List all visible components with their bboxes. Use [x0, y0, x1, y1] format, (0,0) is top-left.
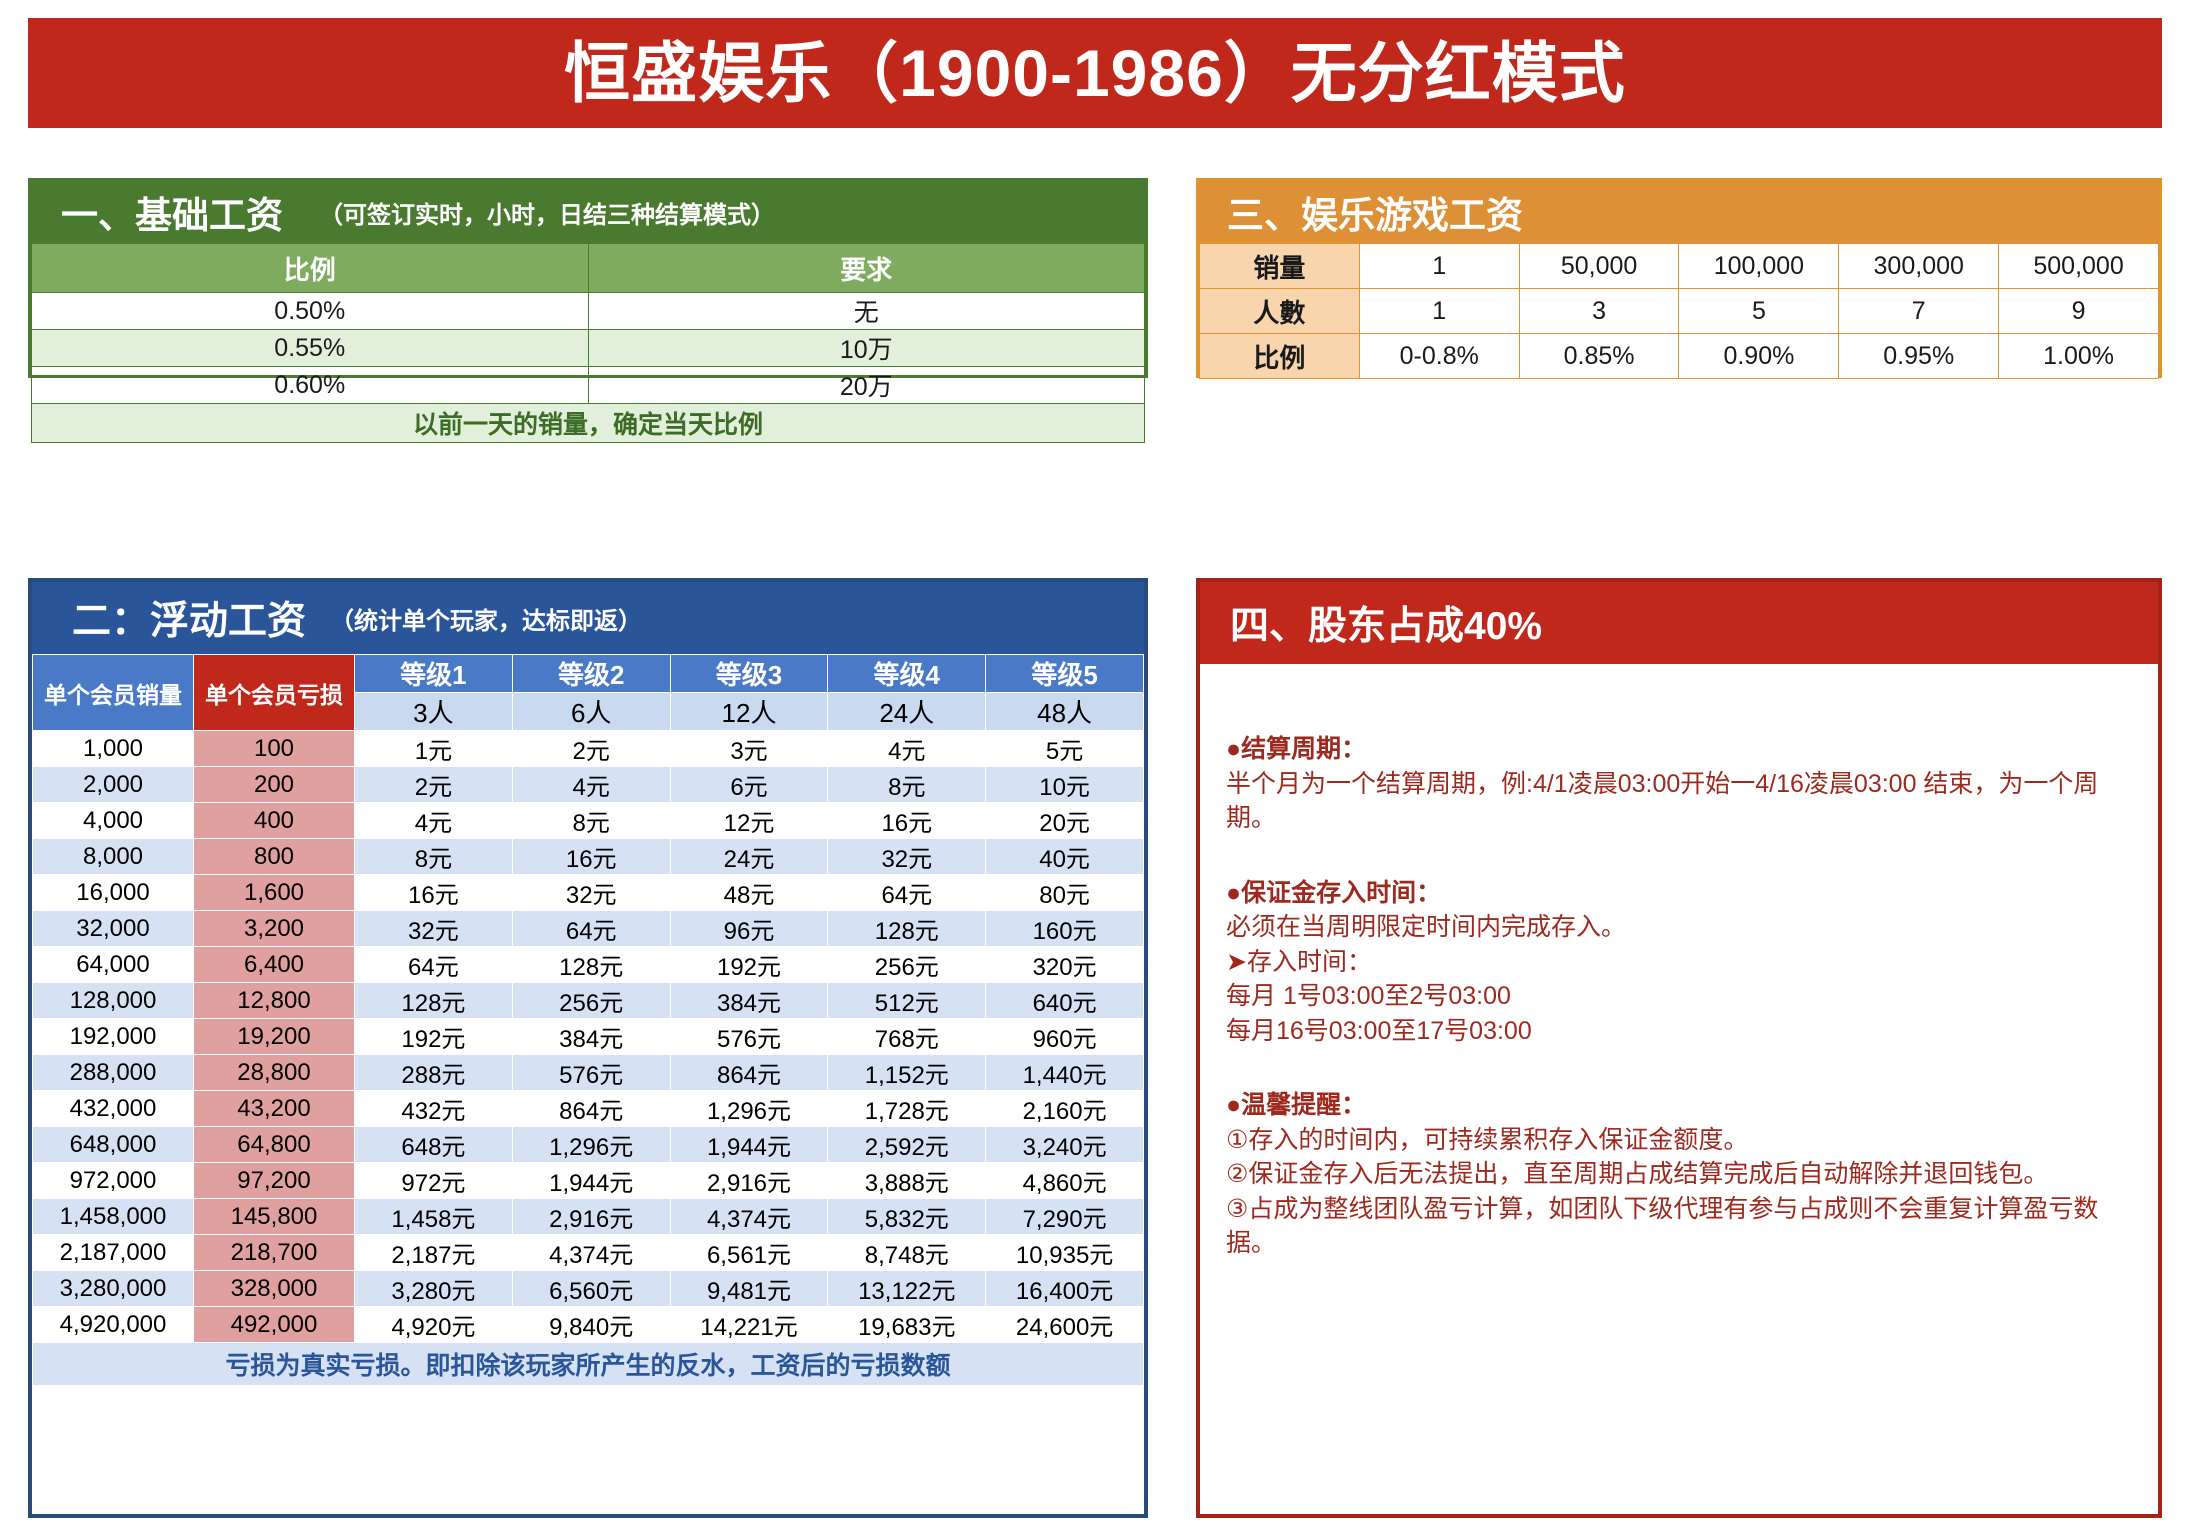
cell-member-loss: 100 — [194, 731, 355, 767]
cell-ratio-2: 0.85% — [1519, 334, 1679, 379]
cell-sales-5: 500,000 — [1999, 244, 2159, 289]
shareholder-note-bullet: ●结算周期： — [1226, 732, 2132, 767]
cell-member-sales: 128,000 — [33, 983, 194, 1019]
cell-level-3: 9,840元 — [512, 1307, 670, 1343]
base-salary-table: 比例 要求 0.50% 无 0.55% 10万 0.60% 20万 以前一天的销… — [31, 243, 1145, 443]
table-row: 0.55% 10万 — [32, 330, 1145, 367]
column-header-member-loss: 单个会员亏损 — [194, 655, 355, 731]
cell-member-sales: 972,000 — [33, 1163, 194, 1199]
column-header-requirement: 要求 — [588, 244, 1145, 293]
cell-member-loss: 1,600 — [194, 875, 355, 911]
shareholder-note-line: 必须在当周明限定时间内完成存入。 — [1226, 910, 2132, 945]
cell-level-3: 128元 — [512, 947, 670, 983]
cell-sales-1: 1 — [1359, 244, 1519, 289]
shareholder-note-line: ①存入的时间内，可持续累积存入保证金额度。 — [1226, 1123, 2132, 1158]
cell-member-loss: 492,000 — [194, 1307, 355, 1343]
cell-level-2: 4,920元 — [355, 1307, 513, 1343]
cell-level-3: 64元 — [512, 911, 670, 947]
table-row: 3,280,000328,0003,280元6,560元9,481元13,122… — [33, 1271, 1144, 1307]
row-header-sales: 销量 — [1200, 244, 1360, 289]
cell-level-6: 7,290元 — [986, 1199, 1144, 1235]
base-salary-footer-note: 以前一天的销量，确定当天比例 — [32, 404, 1145, 443]
cell-level-3: 16元 — [512, 839, 670, 875]
section-shareholder-title: 四、股东占成40% — [1230, 595, 1542, 651]
cell-ratio-3: 0.90% — [1679, 334, 1839, 379]
cell-member-sales: 2,187,000 — [33, 1235, 194, 1271]
table-row: 0.50% 无 — [32, 293, 1145, 330]
cell-level-2: 2元 — [355, 767, 513, 803]
section-floating-salary: 二：浮动工资 （统计单个玩家，达标即返） 单个会员销量 单个会员亏损 等级1 等… — [28, 578, 1148, 1518]
cell-level-3: 864元 — [512, 1091, 670, 1127]
table-row: 32,0003,20032元64元96元128元160元 — [33, 911, 1144, 947]
cell-level-3: 6,560元 — [512, 1271, 670, 1307]
section-shareholder-header: 四、股东占成40% — [1200, 582, 2158, 664]
cell-level-4: 384元 — [670, 983, 828, 1019]
cell-member-loss: 800 — [194, 839, 355, 875]
cell-level-4: 2,916元 — [670, 1163, 828, 1199]
section-base-salary-title: 一、基础工资 — [61, 185, 283, 239]
cell-level-5: 512元 — [828, 983, 986, 1019]
table-row: 972,00097,200972元1,944元2,916元3,888元4,860… — [33, 1163, 1144, 1199]
column-header-level-5: 等级5 — [986, 655, 1144, 693]
section-base-salary: 一、基础工资 （可签订实时，小时，日结三种结算模式） 比例 要求 0.50% 无… — [28, 178, 1148, 378]
cell-level-4: 6元 — [670, 767, 828, 803]
cell-member-sales: 4,920,000 — [33, 1307, 194, 1343]
cell-level-5: 128元 — [828, 911, 986, 947]
cell-level-2: 192元 — [355, 1019, 513, 1055]
cell-requirement: 10万 — [588, 330, 1145, 367]
cell-member-loss: 28,800 — [194, 1055, 355, 1091]
page-title-banner: 恒盛娱乐（1900-1986）无分红模式 — [28, 18, 2162, 128]
cell-level-3: 4元 — [512, 767, 670, 803]
cell-level-6: 10元 — [986, 767, 1144, 803]
cell-requirement: 无 — [588, 293, 1145, 330]
cell-level-5: 16元 — [828, 803, 986, 839]
level-count-1: 3人 — [355, 693, 513, 731]
cell-level-2: 288元 — [355, 1055, 513, 1091]
cell-level-3: 1,296元 — [512, 1127, 670, 1163]
section-shareholder: 四、股东占成40% ●结算周期：半个月为一个结算周期，例:4/1凌晨03:00开… — [1196, 578, 2162, 1518]
cell-people-3: 5 — [1679, 289, 1839, 334]
cell-level-4: 1,944元 — [670, 1127, 828, 1163]
level-count-2: 6人 — [512, 693, 670, 731]
game-salary-table: 销量 1 50,000 100,000 300,000 500,000 人數 1… — [1199, 243, 2159, 379]
cell-level-6: 160元 — [986, 911, 1144, 947]
section-base-salary-note: （可签订实时，小时，日结三种结算模式） — [319, 195, 775, 230]
cell-level-6: 4,860元 — [986, 1163, 1144, 1199]
cell-member-sales: 2,000 — [33, 767, 194, 803]
cell-level-4: 14,221元 — [670, 1307, 828, 1343]
cell-level-4: 3元 — [670, 731, 828, 767]
column-header-ratio: 比例 — [32, 244, 589, 293]
section-shareholder-body: ●结算周期：半个月为一个结算周期，例:4/1凌晨03:00开始一4/16凌晨03… — [1200, 664, 2158, 1261]
cell-level-6: 320元 — [986, 947, 1144, 983]
cell-level-2: 128元 — [355, 983, 513, 1019]
cell-member-sales: 648,000 — [33, 1127, 194, 1163]
cell-member-sales: 64,000 — [33, 947, 194, 983]
cell-level-5: 13,122元 — [828, 1271, 986, 1307]
cell-member-loss: 64,800 — [194, 1127, 355, 1163]
cell-level-4: 12元 — [670, 803, 828, 839]
table-row: 8,0008008元16元24元32元40元 — [33, 839, 1144, 875]
cell-level-2: 64元 — [355, 947, 513, 983]
table-row: 比例 0-0.8% 0.85% 0.90% 0.95% 1.00% — [1200, 334, 2159, 379]
cell-member-sales: 8,000 — [33, 839, 194, 875]
cell-ratio: 0.55% — [32, 330, 589, 367]
table-footer-row: 亏损为真实亏损。即扣除该玩家所产生的反水，工资后的亏损数额 — [33, 1343, 1144, 1386]
cell-member-sales: 3,280,000 — [33, 1271, 194, 1307]
cell-level-6: 640元 — [986, 983, 1144, 1019]
cell-level-2: 8元 — [355, 839, 513, 875]
cell-level-3: 4,374元 — [512, 1235, 670, 1271]
cell-level-2: 3,280元 — [355, 1271, 513, 1307]
cell-people-1: 1 — [1359, 289, 1519, 334]
cell-level-2: 32元 — [355, 911, 513, 947]
table-row: 16,0001,60016元32元48元64元80元 — [33, 875, 1144, 911]
cell-level-4: 9,481元 — [670, 1271, 828, 1307]
cell-level-5: 8元 — [828, 767, 986, 803]
cell-ratio: 0.60% — [32, 367, 589, 404]
cell-level-6: 2,160元 — [986, 1091, 1144, 1127]
cell-level-2: 2,187元 — [355, 1235, 513, 1271]
cell-ratio-1: 0-0.8% — [1359, 334, 1519, 379]
cell-member-sales: 432,000 — [33, 1091, 194, 1127]
table-row: 2,0002002元4元6元8元10元 — [33, 767, 1144, 803]
cell-people-4: 7 — [1839, 289, 1999, 334]
cell-level-5: 19,683元 — [828, 1307, 986, 1343]
level-count-4: 24人 — [828, 693, 986, 731]
shareholder-note-line: ③占成为整线团队盈亏计算，如团队下级代理有参与占成则不会重复计算盈亏数据。 — [1226, 1192, 2132, 1261]
cell-level-4: 576元 — [670, 1019, 828, 1055]
cell-level-3: 8元 — [512, 803, 670, 839]
table-row: 64,0006,40064元128元192元256元320元 — [33, 947, 1144, 983]
shareholder-note-block: ●结算周期：半个月为一个结算周期，例:4/1凌晨03:00开始一4/16凌晨03… — [1226, 732, 2132, 836]
cell-sales-4: 300,000 — [1839, 244, 1999, 289]
shareholder-note-line: ②保证金存入后无法提出，直至周期占成结算完成后自动解除并退回钱包。 — [1226, 1157, 2132, 1192]
table-footer-row: 以前一天的销量，确定当天比例 — [32, 404, 1145, 443]
cell-member-sales: 32,000 — [33, 911, 194, 947]
cell-level-4: 6,561元 — [670, 1235, 828, 1271]
table-row: 1,458,000145,8001,458元2,916元4,374元5,832元… — [33, 1199, 1144, 1235]
cell-level-4: 48元 — [670, 875, 828, 911]
cell-level-3: 576元 — [512, 1055, 670, 1091]
cell-level-3: 2元 — [512, 731, 670, 767]
cell-level-4: 24元 — [670, 839, 828, 875]
cell-level-2: 432元 — [355, 1091, 513, 1127]
section-floating-salary-header: 二：浮动工资 （统计单个玩家，达标即返） — [32, 582, 1144, 654]
shareholder-note-line: 每月 1号03:00至2号03:00 — [1226, 979, 2132, 1014]
cell-member-loss: 12,800 — [194, 983, 355, 1019]
table-row: 销量 1 50,000 100,000 300,000 500,000 — [1200, 244, 2159, 289]
cell-member-loss: 19,200 — [194, 1019, 355, 1055]
cell-level-6: 20元 — [986, 803, 1144, 839]
cell-sales-3: 100,000 — [1679, 244, 1839, 289]
section-floating-salary-note: （统计单个玩家，达标即返） — [330, 601, 642, 636]
cell-level-2: 648元 — [355, 1127, 513, 1163]
cell-level-3: 32元 — [512, 875, 670, 911]
cell-level-5: 768元 — [828, 1019, 986, 1055]
row-header-people: 人數 — [1200, 289, 1360, 334]
cell-level-2: 4元 — [355, 803, 513, 839]
cell-level-6: 10,935元 — [986, 1235, 1144, 1271]
cell-level-5: 1,152元 — [828, 1055, 986, 1091]
cell-member-loss: 6,400 — [194, 947, 355, 983]
level-count-5: 48人 — [986, 693, 1144, 731]
section-floating-salary-title: 二：浮动工资 — [72, 590, 306, 646]
cell-level-6: 1,440元 — [986, 1055, 1144, 1091]
cell-sales-2: 50,000 — [1519, 244, 1679, 289]
cell-level-2: 1元 — [355, 731, 513, 767]
cell-member-loss: 200 — [194, 767, 355, 803]
shareholder-note-line: 每月16号03:00至17号03:00 — [1226, 1014, 2132, 1049]
cell-member-sales: 288,000 — [33, 1055, 194, 1091]
cell-level-4: 96元 — [670, 911, 828, 947]
cell-level-2: 16元 — [355, 875, 513, 911]
table-row: 192,00019,200192元384元576元768元960元 — [33, 1019, 1144, 1055]
cell-member-sales: 192,000 — [33, 1019, 194, 1055]
table-row: 648,00064,800648元1,296元1,944元2,592元3,240… — [33, 1127, 1144, 1163]
cell-level-6: 960元 — [986, 1019, 1144, 1055]
cell-level-5: 64元 — [828, 875, 986, 911]
cell-level-4: 1,296元 — [670, 1091, 828, 1127]
table-row: 128,00012,800128元256元384元512元640元 — [33, 983, 1144, 1019]
row-header-ratio: 比例 — [1200, 334, 1360, 379]
cell-ratio: 0.50% — [32, 293, 589, 330]
cell-level-3: 2,916元 — [512, 1199, 670, 1235]
table-row: 432,00043,200432元864元1,296元1,728元2,160元 — [33, 1091, 1144, 1127]
cell-member-loss: 3,200 — [194, 911, 355, 947]
cell-member-sales: 1,458,000 — [33, 1199, 194, 1235]
cell-level-4: 4,374元 — [670, 1199, 828, 1235]
cell-level-5: 5,832元 — [828, 1199, 986, 1235]
cell-requirement: 20万 — [588, 367, 1145, 404]
table-header-row: 单个会员销量 单个会员亏损 等级1 等级2 等级3 等级4 等级5 — [33, 655, 1144, 693]
shareholder-note-line: 半个月为一个结算周期，例:4/1凌晨03:00开始一4/16凌晨03:00 结束… — [1226, 767, 2132, 836]
cell-member-loss: 328,000 — [194, 1271, 355, 1307]
shareholder-note-line: ➤存入时间： — [1226, 945, 2132, 980]
cell-level-2: 972元 — [355, 1163, 513, 1199]
column-header-level-4: 等级4 — [828, 655, 986, 693]
cell-level-5: 3,888元 — [828, 1163, 986, 1199]
table-header-row: 比例 要求 — [32, 244, 1145, 293]
cell-level-5: 4元 — [828, 731, 986, 767]
section-base-salary-header: 一、基础工资 （可签订实时，小时，日结三种结算模式） — [31, 181, 1145, 243]
cell-level-5: 256元 — [828, 947, 986, 983]
cell-member-sales: 4,000 — [33, 803, 194, 839]
cell-level-6: 3,240元 — [986, 1127, 1144, 1163]
cell-member-loss: 97,200 — [194, 1163, 355, 1199]
section-game-salary-title: 三、娱乐游戏工资 — [1227, 185, 1523, 239]
cell-level-6: 24,600元 — [986, 1307, 1144, 1343]
shareholder-note-bullet: ●保证金存入时间： — [1226, 876, 2132, 911]
cell-level-5: 8,748元 — [828, 1235, 986, 1271]
shareholder-note-bullet: ●温馨提醒： — [1226, 1088, 2132, 1123]
cell-member-loss: 43,200 — [194, 1091, 355, 1127]
page-title: 恒盛娱乐（1900-1986）无分红模式 — [564, 40, 1626, 106]
shareholder-note-block: ●保证金存入时间：必须在当周明限定时间内完成存入。➤存入时间：每月 1号03:0… — [1226, 876, 2132, 1049]
cell-level-6: 5元 — [986, 731, 1144, 767]
floating-salary-table: 单个会员销量 单个会员亏损 等级1 等级2 等级3 等级4 等级5 3人 6人 … — [32, 654, 1144, 1386]
cell-member-loss: 145,800 — [194, 1199, 355, 1235]
cell-member-loss: 218,700 — [194, 1235, 355, 1271]
section-game-salary: 三、娱乐游戏工资 销量 1 50,000 100,000 300,000 500… — [1196, 178, 2162, 378]
cell-level-4: 864元 — [670, 1055, 828, 1091]
cell-level-6: 80元 — [986, 875, 1144, 911]
cell-level-5: 32元 — [828, 839, 986, 875]
cell-level-5: 1,728元 — [828, 1091, 986, 1127]
cell-level-3: 1,944元 — [512, 1163, 670, 1199]
cell-level-3: 256元 — [512, 983, 670, 1019]
table-row: 4,920,000492,0004,920元9,840元14,221元19,68… — [33, 1307, 1144, 1343]
cell-level-6: 40元 — [986, 839, 1144, 875]
cell-ratio-4: 0.95% — [1839, 334, 1999, 379]
column-header-level-1: 等级1 — [355, 655, 513, 693]
table-row: 288,00028,800288元576元864元1,152元1,440元 — [33, 1055, 1144, 1091]
column-header-level-2: 等级2 — [512, 655, 670, 693]
table-row: 2,187,000218,7002,187元4,374元6,561元8,748元… — [33, 1235, 1144, 1271]
cell-level-6: 16,400元 — [986, 1271, 1144, 1307]
cell-ratio-5: 1.00% — [1999, 334, 2159, 379]
cell-member-sales: 16,000 — [33, 875, 194, 911]
cell-level-3: 384元 — [512, 1019, 670, 1055]
cell-member-loss: 400 — [194, 803, 355, 839]
table-row: 人數 1 3 5 7 9 — [1200, 289, 2159, 334]
column-header-member-sales: 单个会员销量 — [33, 655, 194, 731]
table-row: 4,0004004元8元12元16元20元 — [33, 803, 1144, 839]
level-count-3: 12人 — [670, 693, 828, 731]
table-row: 0.60% 20万 — [32, 367, 1145, 404]
cell-level-2: 1,458元 — [355, 1199, 513, 1235]
cell-level-5: 2,592元 — [828, 1127, 986, 1163]
floating-salary-footer-note: 亏损为真实亏损。即扣除该玩家所产生的反水，工资后的亏损数额 — [33, 1343, 1144, 1386]
cell-member-sales: 1,000 — [33, 731, 194, 767]
cell-level-4: 192元 — [670, 947, 828, 983]
shareholder-note-block: ●温馨提醒：①存入的时间内，可持续累积存入保证金额度。②保证金存入后无法提出，直… — [1226, 1088, 2132, 1261]
cell-people-5: 9 — [1999, 289, 2159, 334]
column-header-level-3: 等级3 — [670, 655, 828, 693]
section-game-salary-header: 三、娱乐游戏工资 — [1199, 181, 2159, 243]
cell-people-2: 3 — [1519, 289, 1679, 334]
table-row: 1,0001001元2元3元4元5元 — [33, 731, 1144, 767]
